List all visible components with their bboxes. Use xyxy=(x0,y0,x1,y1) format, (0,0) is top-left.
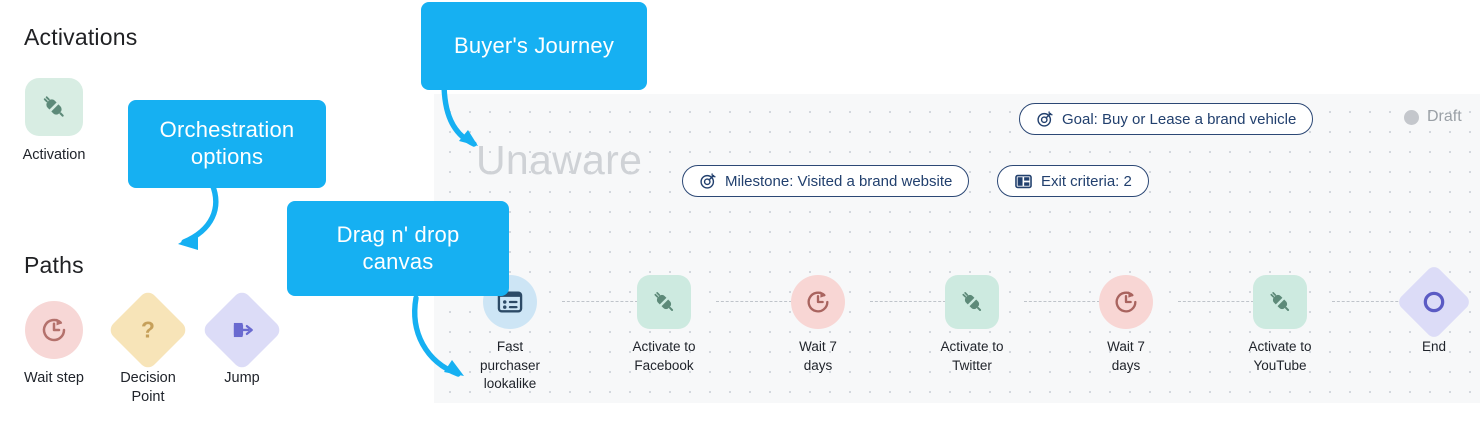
stage-title: Unaware xyxy=(476,137,642,184)
flow-node-label: End xyxy=(1422,338,1446,357)
flow-node-wait-7-days-1[interactable]: Wait 7 days xyxy=(762,275,874,375)
callout-text: Orchestration options xyxy=(160,117,295,171)
chip-milestone-label: Milestone: Visited a brand website xyxy=(725,173,952,190)
jump-shape xyxy=(201,289,283,371)
plug-icon xyxy=(958,288,986,316)
node-shape xyxy=(637,275,691,329)
flow-node-label: Activate to YouTube xyxy=(1248,338,1311,375)
wait-step-shape xyxy=(25,301,83,359)
chip-exit-label: Exit criteria: 2 xyxy=(1041,173,1132,190)
circle-ring-icon xyxy=(1421,289,1447,315)
flow-node-label: Wait 7 days xyxy=(1107,338,1145,375)
flow-node-activate-to-facebook[interactable]: Activate to Facebook xyxy=(608,275,720,375)
callout-buyers-journey: Buyer's Journey xyxy=(421,2,647,90)
activation-shape xyxy=(25,78,83,136)
flow-node-activate-to-youtube[interactable]: Activate to YouTube xyxy=(1224,275,1336,375)
journey-builder-screen: Activations Activation Paths W xyxy=(0,0,1480,428)
chip-exit-criteria[interactable]: Exit criteria: 2 xyxy=(997,165,1149,197)
clock-rotate-icon xyxy=(1112,288,1140,316)
journey-flow: Fast purchaser lookalike Activate to xyxy=(434,275,1480,400)
palette-item-activation[interactable]: Activation xyxy=(2,78,106,165)
palette-item-wait-step[interactable]: Wait step xyxy=(2,301,106,388)
chip-goal[interactable]: Goal: Buy or Lease a brand vehicle xyxy=(1019,103,1313,135)
flow-node-activate-to-twitter[interactable]: Activate to Twitter xyxy=(916,275,1028,375)
palette-item-jump[interactable]: Jump xyxy=(190,301,294,388)
chip-milestone[interactable]: Milestone: Visited a brand website xyxy=(682,165,969,197)
node-shape xyxy=(1396,264,1472,340)
target-icon xyxy=(699,172,717,190)
status-label: Draft xyxy=(1427,108,1462,126)
callout-text: Buyer's Journey xyxy=(454,33,614,60)
clock-rotate-icon xyxy=(804,288,832,316)
svg-text:?: ? xyxy=(141,317,155,343)
callout-orchestration-options: Orchestration options xyxy=(128,100,326,188)
palette-item-decision-point[interactable]: ? Decision Point xyxy=(96,301,200,407)
callout-drag-n-drop-canvas: Drag n' drop canvas xyxy=(287,201,509,296)
flow-node-wait-7-days-2[interactable]: Wait 7 days xyxy=(1070,275,1182,375)
status-badge: Draft xyxy=(1404,108,1462,126)
journey-canvas[interactable]: Unaware Goal: Buy or Lease a brand vehic… xyxy=(434,94,1480,403)
flow-node-label: Activate to Twitter xyxy=(940,338,1003,375)
flow-node-label: Fast purchaser lookalike xyxy=(480,338,540,394)
flow-node-label: Wait 7 days xyxy=(799,338,837,375)
status-dot-icon xyxy=(1404,110,1419,125)
node-shape xyxy=(1099,275,1153,329)
plug-icon xyxy=(39,92,69,122)
layout-grid-icon xyxy=(1014,172,1033,191)
question-mark-icon: ? xyxy=(135,317,161,343)
callout-arrow-orchestration xyxy=(150,182,240,272)
palette-item-label: Jump xyxy=(224,369,259,388)
plug-icon xyxy=(650,288,678,316)
node-shape xyxy=(1253,275,1307,329)
decision-point-shape: ? xyxy=(107,289,189,371)
flow-node-end[interactable]: End xyxy=(1378,275,1480,357)
clock-rotate-icon xyxy=(39,315,69,345)
palette-heading-paths: Paths xyxy=(24,252,84,279)
plug-icon xyxy=(1266,288,1294,316)
callout-text: Drag n' drop canvas xyxy=(337,222,460,276)
palette-item-label: Wait step xyxy=(24,369,84,388)
palette-item-label: Decision Point xyxy=(120,369,176,407)
flow-node-label: Activate to Facebook xyxy=(632,338,695,375)
exit-arrow-icon xyxy=(229,317,255,343)
node-shape xyxy=(791,275,845,329)
target-icon xyxy=(1036,110,1054,128)
chip-goal-label: Goal: Buy or Lease a brand vehicle xyxy=(1062,111,1296,128)
palette-item-label: Activation xyxy=(23,146,86,165)
palette-heading-activations: Activations xyxy=(24,24,137,51)
node-shape xyxy=(945,275,999,329)
